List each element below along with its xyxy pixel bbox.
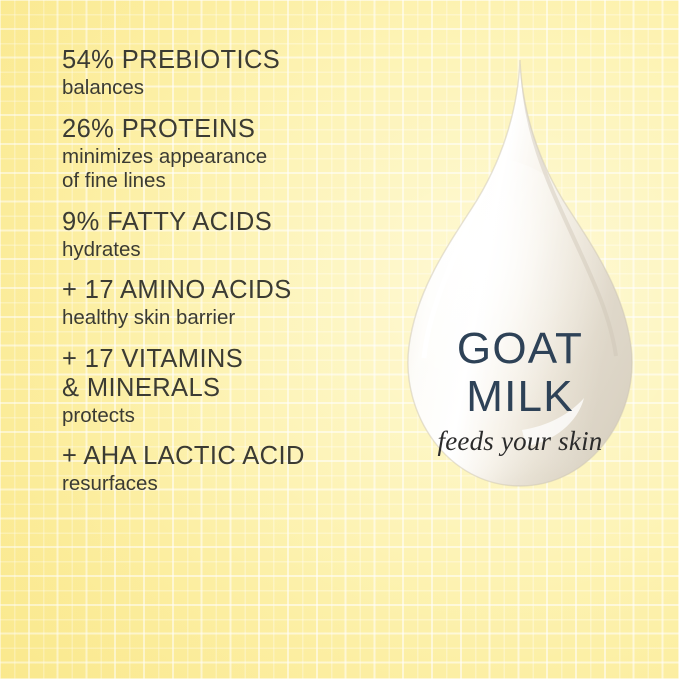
ingredient-item-fatty-acids: 9% FATTY ACIDS hydrates — [62, 208, 382, 263]
infographic-canvas: 54% PREBIOTICS balances 26% PROTEINS min… — [0, 0, 679, 679]
ingredient-benefit: minimizes appearance of fine lines — [62, 145, 382, 194]
ingredient-item-proteins: 26% PROTEINS minimizes appearance of fin… — [62, 115, 382, 194]
ingredient-benefit: protects — [62, 404, 382, 429]
ingredient-headline: 26% PROTEINS — [62, 115, 382, 144]
milk-droplet-illustration — [372, 58, 668, 550]
ingredient-benefit: resurfaces — [62, 472, 382, 497]
ingredient-benefit: balances — [62, 76, 382, 101]
ingredient-headline: + 17 VITAMINS & MINERALS — [62, 345, 382, 403]
ingredient-item-prebiotics: 54% PREBIOTICS balances — [62, 46, 382, 101]
ingredient-item-aha-lactic-acid: + AHA LACTIC ACID resurfaces — [62, 442, 382, 497]
droplet-icon — [372, 58, 668, 550]
ingredient-headline: + 17 AMINO ACIDS — [62, 276, 382, 305]
ingredient-benefit: healthy skin barrier — [62, 306, 382, 331]
ingredient-list: 54% PREBIOTICS balances 26% PROTEINS min… — [62, 46, 382, 497]
ingredient-item-amino-acids: + 17 AMINO ACIDS healthy skin barrier — [62, 276, 382, 331]
ingredient-benefit: hydrates — [62, 238, 382, 263]
ingredient-headline: 9% FATTY ACIDS — [62, 208, 382, 237]
ingredient-item-vitamins-minerals: + 17 VITAMINS & MINERALS protects — [62, 345, 382, 429]
ingredient-headline: 54% PREBIOTICS — [62, 46, 382, 75]
droplet-right-rim-shade — [502, 58, 668, 550]
ingredient-headline: + AHA LACTIC ACID — [62, 442, 382, 471]
